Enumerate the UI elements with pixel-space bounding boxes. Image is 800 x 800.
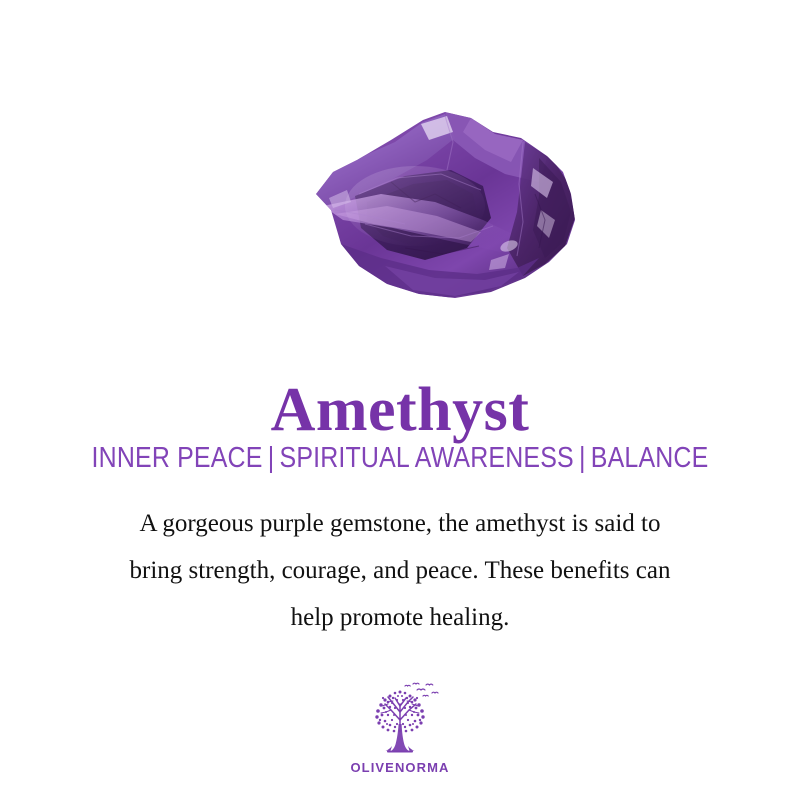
page-title: Amethyst — [0, 379, 800, 441]
amethyst-gemstone-image — [295, 98, 587, 310]
description-line: bring strength, courage, and peace. Thes… — [50, 547, 750, 594]
keyword-list: INNER PEACE|SPIRITUAL AWARENESS|BALANCE — [56, 443, 744, 475]
tree-of-life-icon — [357, 680, 443, 758]
description-line: A gorgeous purple gemstone, the amethyst… — [50, 500, 750, 547]
keyword-inner-peace: INNER PEACE — [92, 442, 263, 474]
amethyst-raw-crystal-icon — [295, 98, 587, 310]
brand-logo: OLIVENORMA — [0, 680, 800, 775]
keyword-spiritual-awareness: SPIRITUAL AWARENESS — [280, 442, 574, 474]
keyword-separator: | — [263, 442, 280, 474]
keyword-separator: | — [574, 442, 591, 474]
product-card: Amethyst INNER PEACE|SPIRITUAL AWARENESS… — [0, 0, 800, 800]
description-line: help promote healing. — [50, 594, 750, 641]
product-description: A gorgeous purple gemstone, the amethyst… — [50, 500, 750, 641]
keyword-balance: BALANCE — [591, 442, 709, 474]
brand-name: OLIVENORMA — [350, 760, 449, 775]
gem-body — [295, 98, 587, 310]
